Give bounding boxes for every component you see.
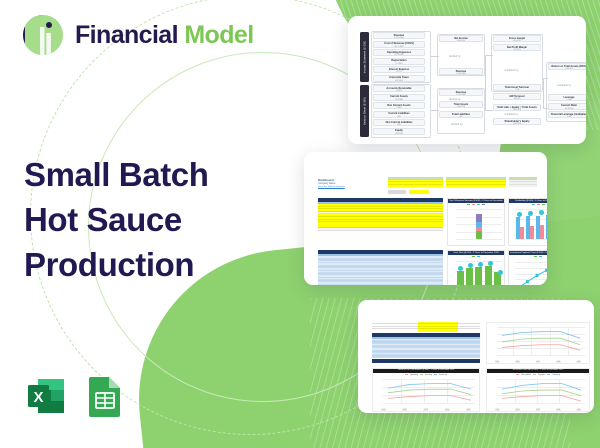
node-total-liabilities: Total Liabilities(52) [439,111,483,118]
reset-button[interactable] [388,190,406,194]
node-total-asset-turnover: Total Asset Turnover7.29 [493,84,541,91]
page-title-line-3: Production [24,242,274,287]
page-title-line-2: Hot Sauce [24,197,274,242]
brand-name: Financial Model [75,21,254,50]
financial-statements-screenshot: 20212022202320242025 CASH FLOW STATEMENT… [364,306,588,407]
file-format-icons: X [24,374,125,418]
node-leverage: Leverage1.000 [548,94,586,101]
node-current-ratio: Current Ratio4178.98 [548,103,586,110]
node-non-current-liabilities: Non Current Liabilities(13) [373,119,425,126]
node-revenue-denominator: Revenue1,210,800 [439,68,483,75]
numbers-button[interactable] [409,190,429,194]
dupont-analysis-card[interactable]: Income Statement ($ 000) Balance Sheet (… [348,16,586,144]
brand-name-part1: Financial [75,21,178,49]
income-statement-band: Income Statement ($ 000) [360,32,369,82]
table-of-contents-link[interactable]: Go to the Table of Contents [318,186,345,188]
node-revenue: Revenue1,210,800 [373,32,425,39]
financial-inputs-table [372,322,480,363]
dashboard-company-name: Company Name [318,182,335,185]
dupont-diagram: Income Statement ($ 000) Balance Sheet (… [354,22,580,138]
node-ar-turnover: A/R Turnover134.59 [493,93,541,100]
node-equity: Equity165,925 [373,128,425,135]
node-gross-margin: Gross margin65.53% [493,35,541,42]
operator-divided-by: divided by [449,55,461,58]
node-net-profit-margin: Net Profit Margin37.87% [493,44,541,51]
working-capital-chart: WORKING CAPITAL ($ 000) - 5 Years to Dec… [486,368,590,412]
node-opex: Operating Expenses(271,548) [373,49,425,56]
cash-flow-chart: Cash Flow ($ 000) - 5 Years to December … [447,250,505,285]
excel-file-icon[interactable]: X [24,374,68,418]
profit-loss-chart: 20212022202320242025 [486,322,590,364]
node-non-current-assets: Non Current Assets2,997 [373,102,425,109]
node-revenue-2: Revenue1,210,800 [439,89,483,96]
case-inputs-table [318,198,443,231]
node-current-assets: Current Assets162,980 [373,94,425,101]
brand-name-part2: Model [184,21,253,49]
node-roa: Return on Total Assets (ROA)276.3% [548,63,586,70]
page-title-line-1: Small Batch [24,152,274,197]
scenarios-panel [446,177,506,187]
node-total-assets: Total Assets165,978 [439,101,483,108]
pie-bar-chart-logo-icon [22,14,64,56]
dashboard-card[interactable]: Dashboard Company Name Go to the Table o… [304,152,547,285]
node-depreciation: Depreciation(1,480) [373,58,425,65]
revenue-streams-chart: Top 5 Revenue Streams ($ 000) - 5 Years … [447,198,505,246]
case-financials-table [318,250,443,285]
profitability-chart: Profitability ($ 000) - 5 Years to Decem… [508,198,547,246]
node-net-income: Net Income458,615 [439,35,483,42]
node-ar: Accounts Receivable8,981 [373,85,425,92]
financial-statements-card[interactable]: 20212022202320242025 CASH FLOW STATEMENT… [358,300,594,413]
node-shareholders-equity: Shareholder's Equity165,925 [493,118,541,125]
node-current-liabilities: Current Liabilities(39) [373,111,425,118]
node-cogs: Cost of Revenue (COGS)(417,380) [373,41,425,48]
cash-flow-statement-chart: CASH FLOW STATEMENT ($ 000) - 5 Years to… [372,368,480,412]
page-title: Small Batch Hot Sauce Production [24,152,274,287]
node-taxes: Corporate Taxes(62,530) [373,75,425,82]
investment-payback-chart: Investment Payback Chart ($ 000) - 5 Yea… [508,250,547,285]
dashboard-screenshot: Dashboard Company Name Go to the Table o… [310,158,541,279]
svg-text:X: X [33,389,43,406]
node-financial-leverage: Financial Leverage (multiplier)1.00 [548,111,586,118]
balance-sheet-band: Balance Sheet ($ 000) [360,85,369,137]
google-sheets-file-icon[interactable] [85,374,125,418]
node-interest: Interest Expense(237) [373,66,425,73]
brand-logo: Financial Model [22,14,254,56]
currency-panel [388,177,443,187]
node-total-liab-equity: Total Liab + Equity = Total Assets165,97… [493,104,541,111]
analysis-panel [509,177,537,187]
poster-root: Financial Model Small Batch Hot Sauce Pr… [0,0,600,448]
